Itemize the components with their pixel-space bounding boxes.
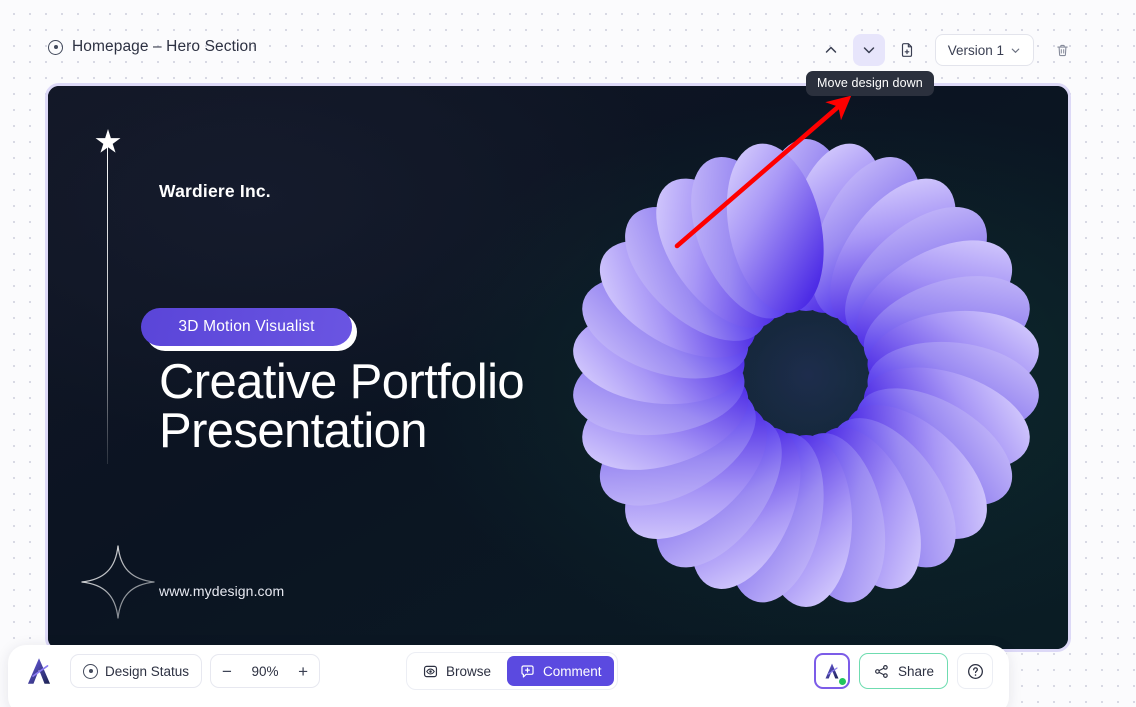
share-nodes-icon bbox=[873, 663, 890, 680]
avatar[interactable] bbox=[814, 653, 850, 689]
vertical-rule bbox=[107, 134, 108, 464]
role-badge: 3D Motion Visualist bbox=[141, 308, 352, 346]
tooltip-move-design-down: Move design down bbox=[806, 71, 934, 96]
star-icon bbox=[95, 129, 121, 155]
trash-icon bbox=[1054, 42, 1071, 59]
comment-mode-label: Comment bbox=[543, 664, 602, 679]
design-url: www.mydesign.com bbox=[159, 583, 284, 599]
version-selector[interactable]: Version 1 bbox=[935, 34, 1034, 66]
bottom-right-cluster: Share bbox=[814, 653, 993, 689]
zoom-in-button[interactable]: + bbox=[298, 663, 308, 680]
browse-mode-button[interactable]: Browse bbox=[410, 656, 503, 686]
zoom-controls: − 90% + bbox=[210, 654, 320, 688]
browse-mode-label: Browse bbox=[446, 664, 491, 679]
design-headline: Creative Portfolio Presentation bbox=[159, 358, 524, 456]
file-plus-icon bbox=[898, 41, 916, 59]
zoom-level-value: 90% bbox=[251, 664, 278, 679]
version-label: Version 1 bbox=[948, 43, 1004, 58]
chevron-down-icon bbox=[1010, 45, 1021, 56]
top-actions-group: Version 1 bbox=[815, 34, 1078, 66]
bottom-toolbar: Design Status − 90% + Browse Comment bbox=[8, 645, 1009, 707]
move-design-down-button[interactable] bbox=[853, 34, 885, 66]
chevron-up-icon bbox=[823, 42, 839, 58]
circle-dot-icon bbox=[48, 40, 63, 55]
top-toolbar: Homepage – Hero Section Version 1 bbox=[0, 0, 1136, 82]
comment-plus-icon bbox=[519, 663, 536, 680]
design-canvas[interactable]: Wardiere Inc. 3D Motion Visualist Creati… bbox=[45, 83, 1071, 652]
3d-torus-artwork bbox=[546, 113, 1066, 633]
zoom-out-button[interactable]: − bbox=[222, 663, 232, 680]
move-design-up-button[interactable] bbox=[815, 34, 847, 66]
share-label: Share bbox=[898, 664, 934, 679]
app-logo-icon[interactable] bbox=[22, 654, 56, 688]
design-artboard: Wardiere Inc. 3D Motion Visualist Creati… bbox=[48, 86, 1068, 649]
help-circle-icon bbox=[966, 662, 985, 681]
sparkle-icon bbox=[80, 544, 156, 620]
brand-name: Wardiere Inc. bbox=[159, 181, 271, 202]
page-title: Homepage – Hero Section bbox=[72, 38, 257, 56]
badge-label: 3D Motion Visualist bbox=[141, 308, 352, 346]
share-button[interactable]: Share bbox=[859, 653, 948, 689]
delete-design-button[interactable] bbox=[1046, 34, 1078, 66]
document-title-group: Homepage – Hero Section bbox=[48, 38, 257, 56]
comment-mode-button[interactable]: Comment bbox=[507, 656, 614, 686]
mode-switcher: Browse Comment bbox=[406, 652, 618, 690]
circle-dot-icon bbox=[83, 664, 98, 679]
help-button[interactable] bbox=[957, 653, 993, 689]
presence-dot bbox=[838, 677, 847, 686]
design-status-label: Design Status bbox=[105, 664, 189, 679]
browse-eye-icon bbox=[422, 663, 439, 680]
design-status-button[interactable]: Design Status bbox=[70, 654, 202, 688]
chevron-down-icon bbox=[861, 42, 877, 58]
add-page-button[interactable] bbox=[891, 34, 923, 66]
